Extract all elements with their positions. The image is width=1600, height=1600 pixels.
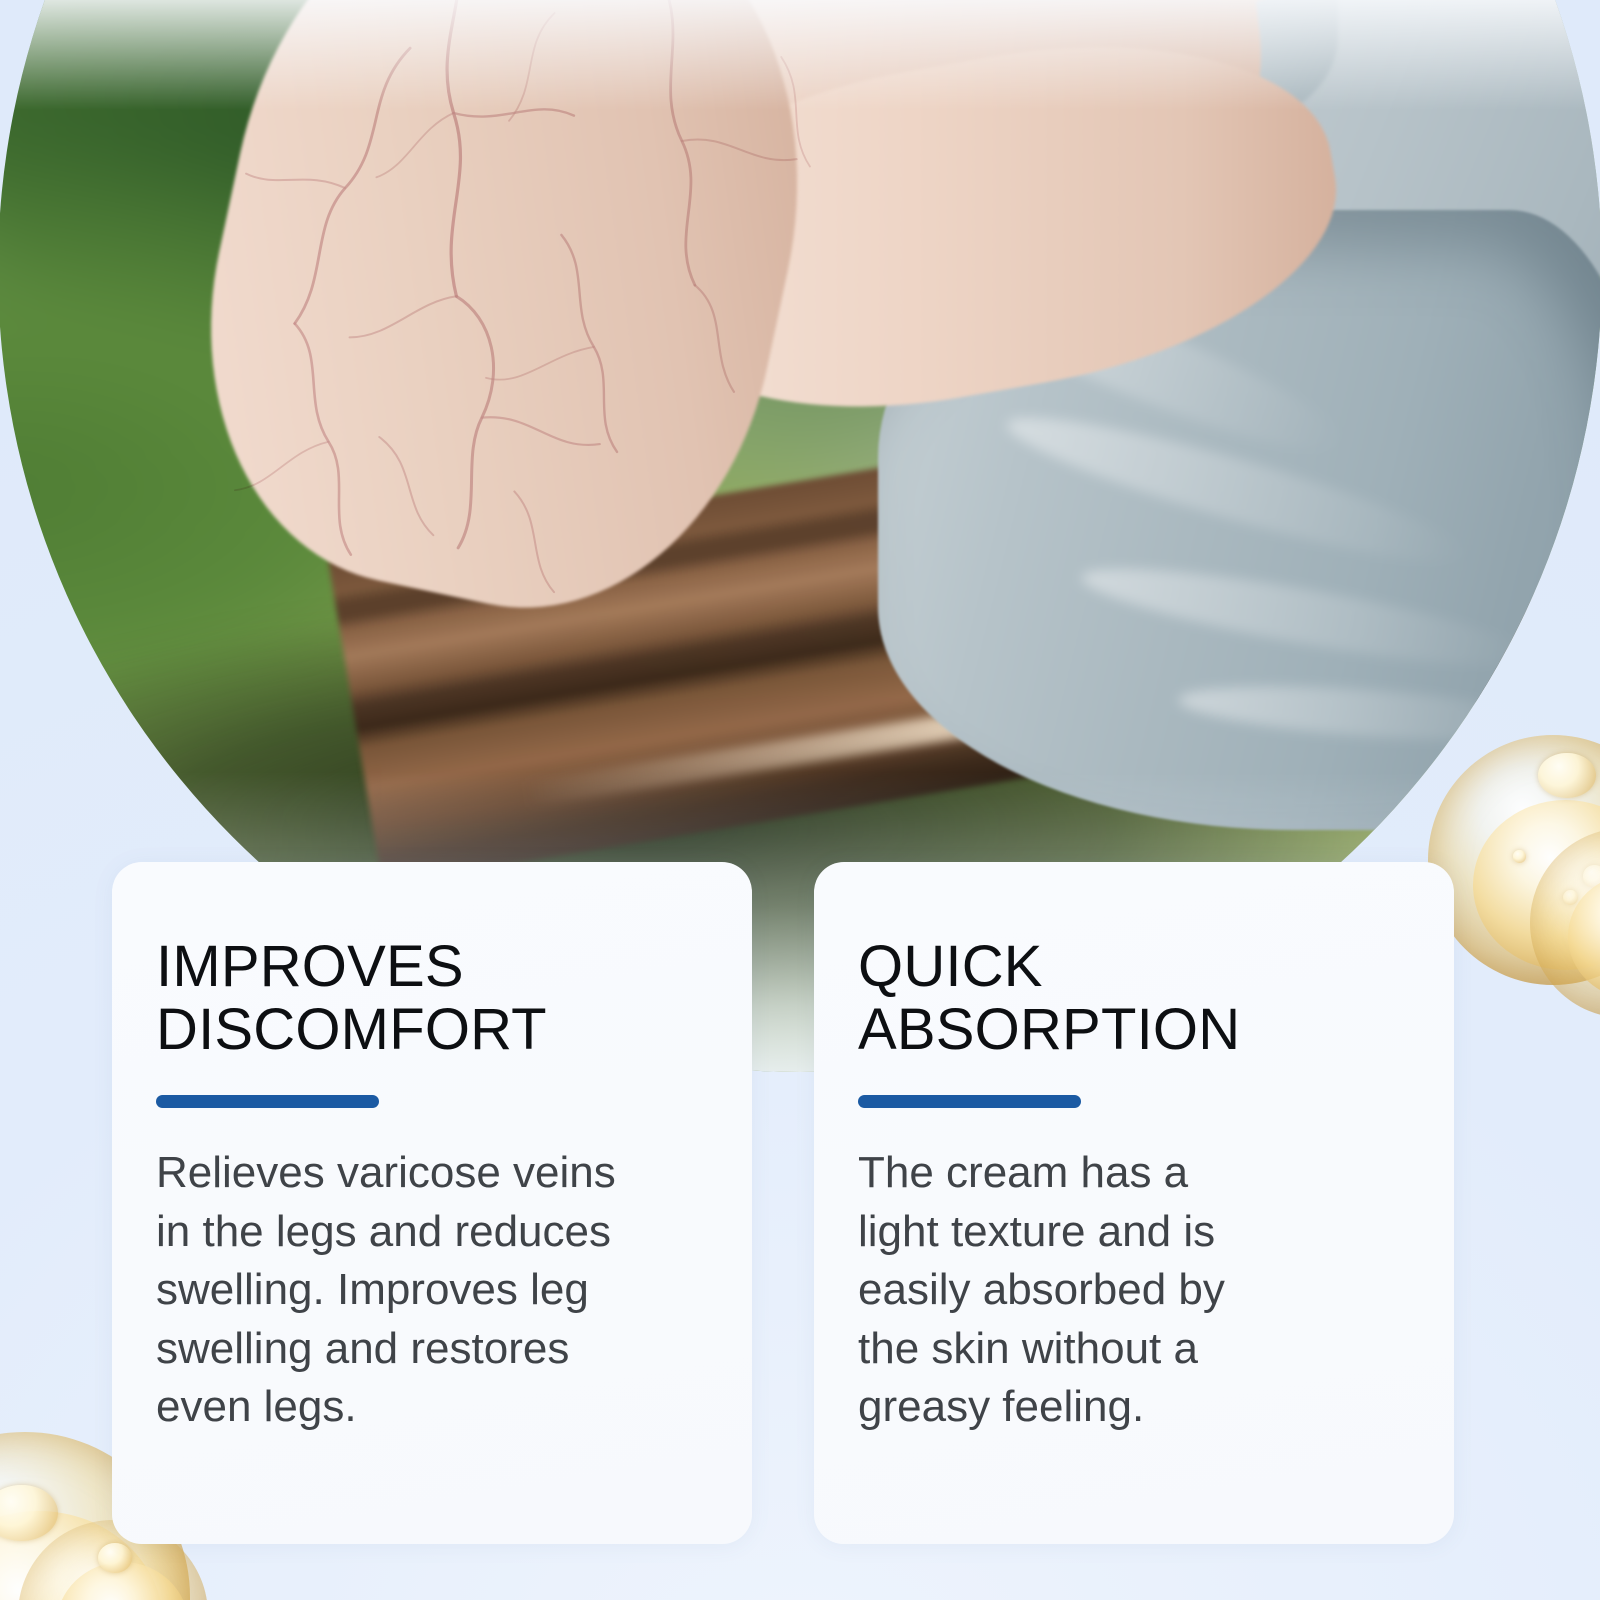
card-body-text: Relieves varicose veins in the legs and … (156, 1144, 656, 1437)
varicose-veins-overlay (153, 0, 1063, 760)
card-title: QUICK ABSORPTION (858, 936, 1398, 1061)
photo-top-fade (0, 0, 1600, 110)
feature-card-group: IMPROVES DISCOMFORT Relieves varicose ve… (112, 862, 1488, 1544)
feature-card-quick-absorption: QUICK ABSORPTION The cream has a light t… (814, 862, 1454, 1544)
card-accent-rule (156, 1095, 379, 1108)
product-feature-poster: IMPROVES DISCOMFORT Relieves varicose ve… (0, 0, 1600, 1600)
card-body-text: The cream has a light texture and is eas… (858, 1144, 1278, 1437)
feature-card-improves-discomfort: IMPROVES DISCOMFORT Relieves varicose ve… (112, 862, 752, 1544)
card-title: IMPROVES DISCOMFORT (156, 936, 696, 1061)
card-accent-rule (858, 1095, 1081, 1108)
